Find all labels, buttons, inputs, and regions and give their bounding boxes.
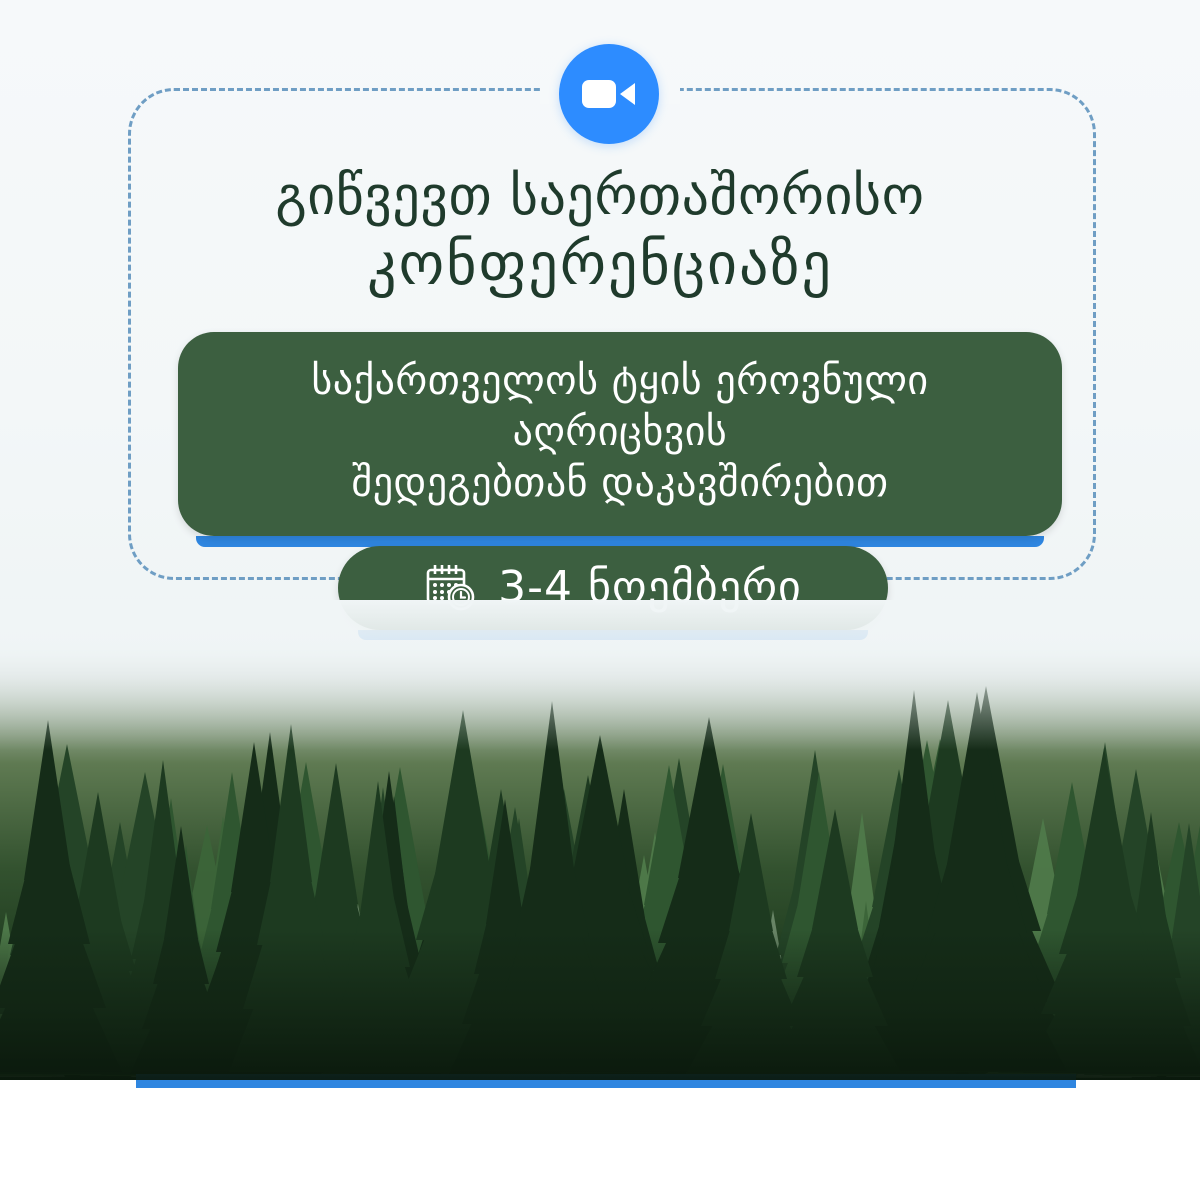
conifer-tree (486, 658, 618, 1080)
blue-separator-bar (136, 1074, 1076, 1088)
calendar-clock-icon (424, 560, 476, 616)
headline-line-2: კონფერენციაზე (100, 235, 1100, 294)
page-title: გიწვევთ საერთაშორისო კონფერენციაზე (100, 168, 1100, 294)
subject-banner-body: საქართველოს ტყის ეროვნული აღრიცხვის შედე… (178, 332, 1062, 536)
conifer-tree (0, 679, 123, 1080)
subject-banner: საქართველოს ტყის ეროვნული აღრიცხვის შედე… (178, 332, 1062, 536)
conifer-tree (130, 797, 232, 1080)
subject-line-1: საქართველოს ტყის ეროვნული აღრიცხვის (212, 356, 1028, 458)
subject-banner-blue-underline (196, 536, 1044, 547)
date-banner-text: 3-4 ნოემბერი (498, 566, 802, 610)
conifer-tree (887, 648, 1068, 1080)
date-banner-body: 3-4 ნოემბერი (338, 546, 888, 630)
subject-line-2: შედეგებთან დაკავშირებით (212, 458, 1028, 509)
conifer-tree (229, 683, 353, 1080)
poster-root: გიწვევთ საერთაშორისო კონფერენციაზე საქარ… (0, 0, 1200, 1200)
headline-line-1: გიწვევთ საერთაშორისო (100, 168, 1100, 223)
footer-logo-strip: საქართველოს გარემოს დაცვისა და სოფლის მე… (0, 1080, 1200, 1200)
zoom-video-camera-icon (559, 44, 659, 144)
forest-photograph (0, 600, 1200, 1080)
conifer-tree (766, 778, 903, 1080)
date-banner-blue-underline (358, 630, 868, 640)
date-banner: 3-4 ნოემბერი (338, 546, 888, 630)
